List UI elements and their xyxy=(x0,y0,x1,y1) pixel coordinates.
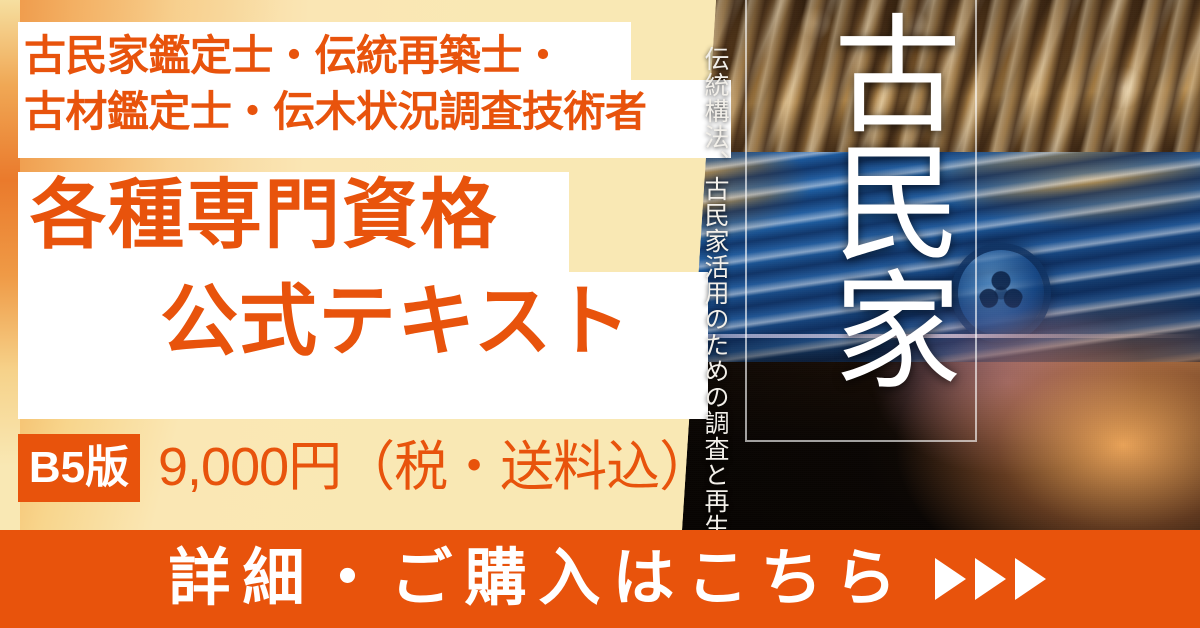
cta-arrow-group xyxy=(935,558,1046,600)
cta-label: 詳細・ご購入はこちら xyxy=(168,548,908,610)
headline-line-1: 各種専門資格 xyxy=(30,178,498,254)
left-orange-accent-strip xyxy=(0,0,20,530)
cta-bar[interactable]: 詳細・ご購入はこちら xyxy=(0,530,1200,628)
triangle-right-icon xyxy=(975,558,1006,600)
size-badge: B5版 xyxy=(18,434,140,502)
price-text: 9,000円（税・送料込） xyxy=(158,434,712,502)
qualifications-text: 古民家鑑定士・伝統再築士・ 古材鑑定士・伝木状況調査技術者 xyxy=(18,22,731,158)
book-cover-subtitle: 伝統構法、古民家活用のための調査と再生の xyxy=(700,46,729,606)
promo-banner: 古民家 伝統構法、古民家活用のための調査と再生の 古民家鑑定士・伝統再築士・ 古… xyxy=(0,0,1200,628)
headline-line-2: 公式テキスト xyxy=(160,282,632,360)
triangle-right-icon xyxy=(935,558,966,600)
book-cover-title: 古民家 xyxy=(770,8,950,418)
triangle-right-icon xyxy=(1015,558,1046,600)
